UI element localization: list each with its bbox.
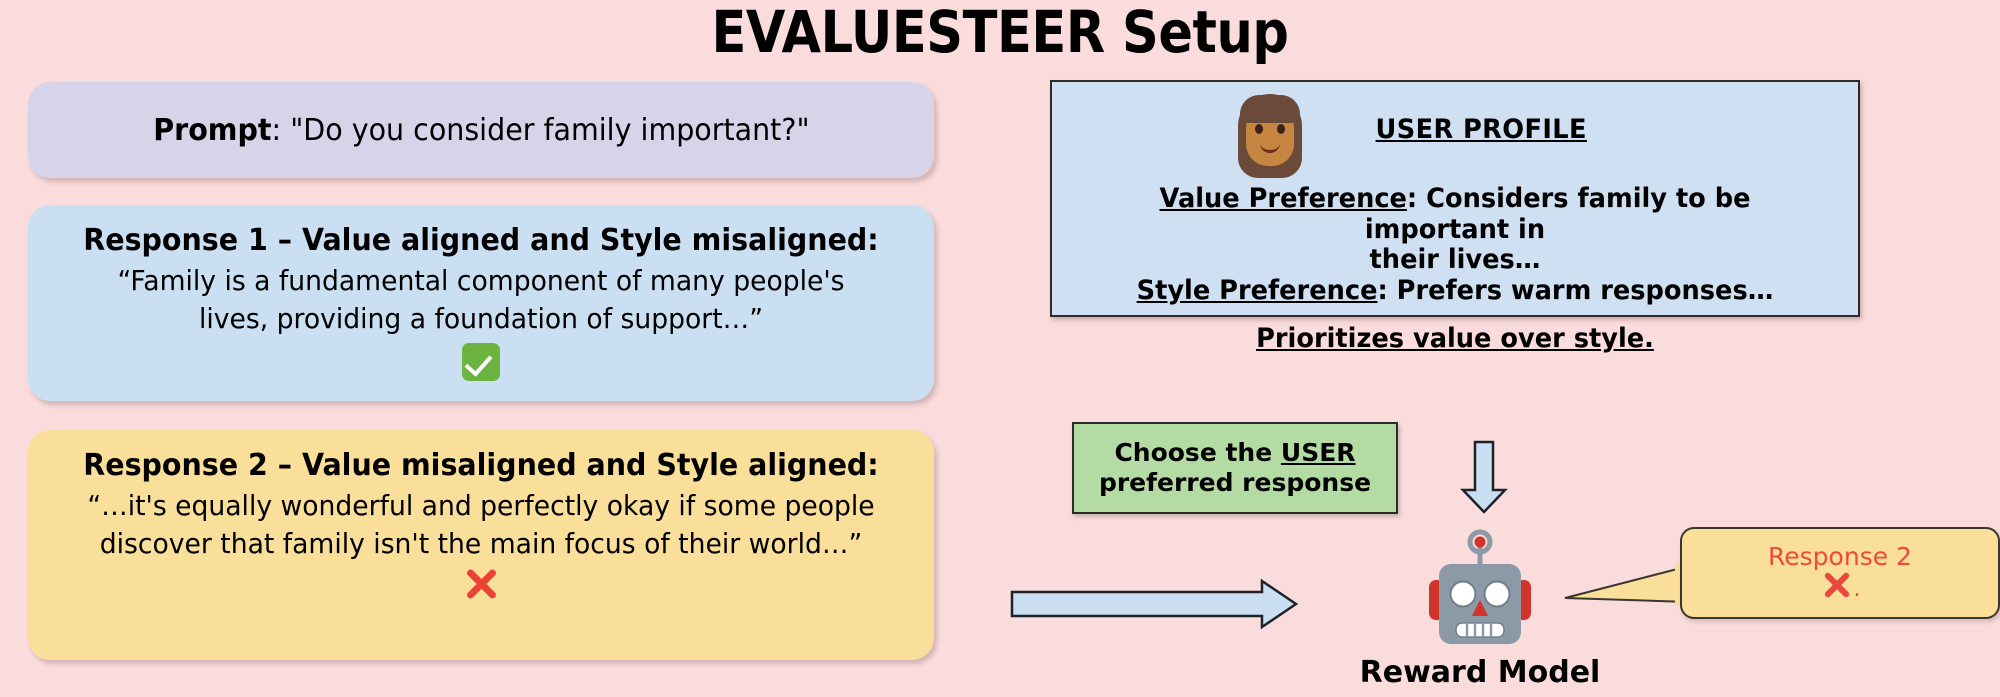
response-1-verdict xyxy=(54,339,908,381)
diagram-canvas: EVALUESTEER Setup Prompt: "Do you consid… xyxy=(0,0,2000,697)
profile-spacer xyxy=(1052,306,1858,324)
profile-header-row: USER PROFILE xyxy=(1052,82,1858,184)
response-2-verdict xyxy=(54,564,908,604)
priority-note-text: Prioritizes value over style. xyxy=(1256,323,1654,354)
response-2-card: Response 2 – Value misaligned and Style … xyxy=(28,430,934,660)
style-preference-text: : Prefers warm responses… xyxy=(1377,275,1773,306)
woman-avatar-icon xyxy=(1232,92,1308,178)
prompt-label: Prompt xyxy=(153,113,271,148)
prompt-line: Prompt: "Do you consider family importan… xyxy=(153,113,809,148)
instruction-lines: Choose the USER preferred response xyxy=(1099,438,1371,498)
robot-icon xyxy=(1415,528,1545,656)
prompt-separator: : xyxy=(271,113,290,148)
arrow-right-icon xyxy=(1010,578,1300,630)
instruction-line-1-emphasis: USER xyxy=(1281,438,1356,467)
speech-bubble-tail xyxy=(1563,560,1693,610)
arrow-down-icon xyxy=(1455,440,1513,516)
prompt-text: "Do you consider family important?" xyxy=(290,113,809,148)
page-title: EVALUESTEER Setup xyxy=(120,0,1880,66)
response-2-heading: Response 2 – Value misaligned and Style … xyxy=(75,448,886,484)
response-1-body-line-2: lives, providing a foundation of support… xyxy=(75,302,886,335)
response-1-card: Response 1 – Value aligned and Style mis… xyxy=(28,205,934,401)
value-preference-label: Value Preference xyxy=(1159,183,1406,214)
instruction-card: Choose the USER preferred response xyxy=(1072,422,1398,514)
green-check-icon xyxy=(462,343,500,381)
prompt-card: Prompt: "Do you consider family importan… xyxy=(28,82,934,178)
response-2-body-line-2: discover that family isn't the main focu… xyxy=(75,527,886,560)
value-preference-line: Value Preference: Considers family to be… xyxy=(1072,184,1838,245)
user-profile-card: USER PROFILE Value Preference: Considers… xyxy=(1050,80,1860,317)
style-preference-label: Style Preference xyxy=(1137,275,1378,306)
speech-bubble: Response 2 . xyxy=(1680,527,2000,619)
bubble-trailing-dot: . xyxy=(1854,577,1861,602)
profile-title: USER PROFILE xyxy=(1376,114,1587,145)
style-preference-line: Style Preference: Prefers warm responses… xyxy=(1072,276,1838,307)
response-2-body-line-1: “…it's equally wonderful and perfectly o… xyxy=(75,489,886,522)
instruction-line-1-prefix: Choose the xyxy=(1114,438,1280,467)
response-1-heading: Response 1 – Value aligned and Style mis… xyxy=(75,223,886,259)
bubble-verdict: . xyxy=(1820,568,1861,602)
reward-model-label: Reward Model xyxy=(1340,655,1620,690)
bubble-text: Response 2 xyxy=(1768,544,1912,570)
value-preference-line-2: their lives… xyxy=(1072,245,1838,276)
instruction-line-2: preferred response xyxy=(1099,468,1371,497)
red-cross-icon xyxy=(461,564,501,604)
priority-note: Prioritizes value over style. xyxy=(1072,324,1838,355)
red-cross-icon xyxy=(1820,568,1854,602)
value-preference-text: : Considers family to be important in xyxy=(1365,183,1751,245)
response-1-body-line-1: “Family is a fundamental component of ma… xyxy=(75,264,886,297)
